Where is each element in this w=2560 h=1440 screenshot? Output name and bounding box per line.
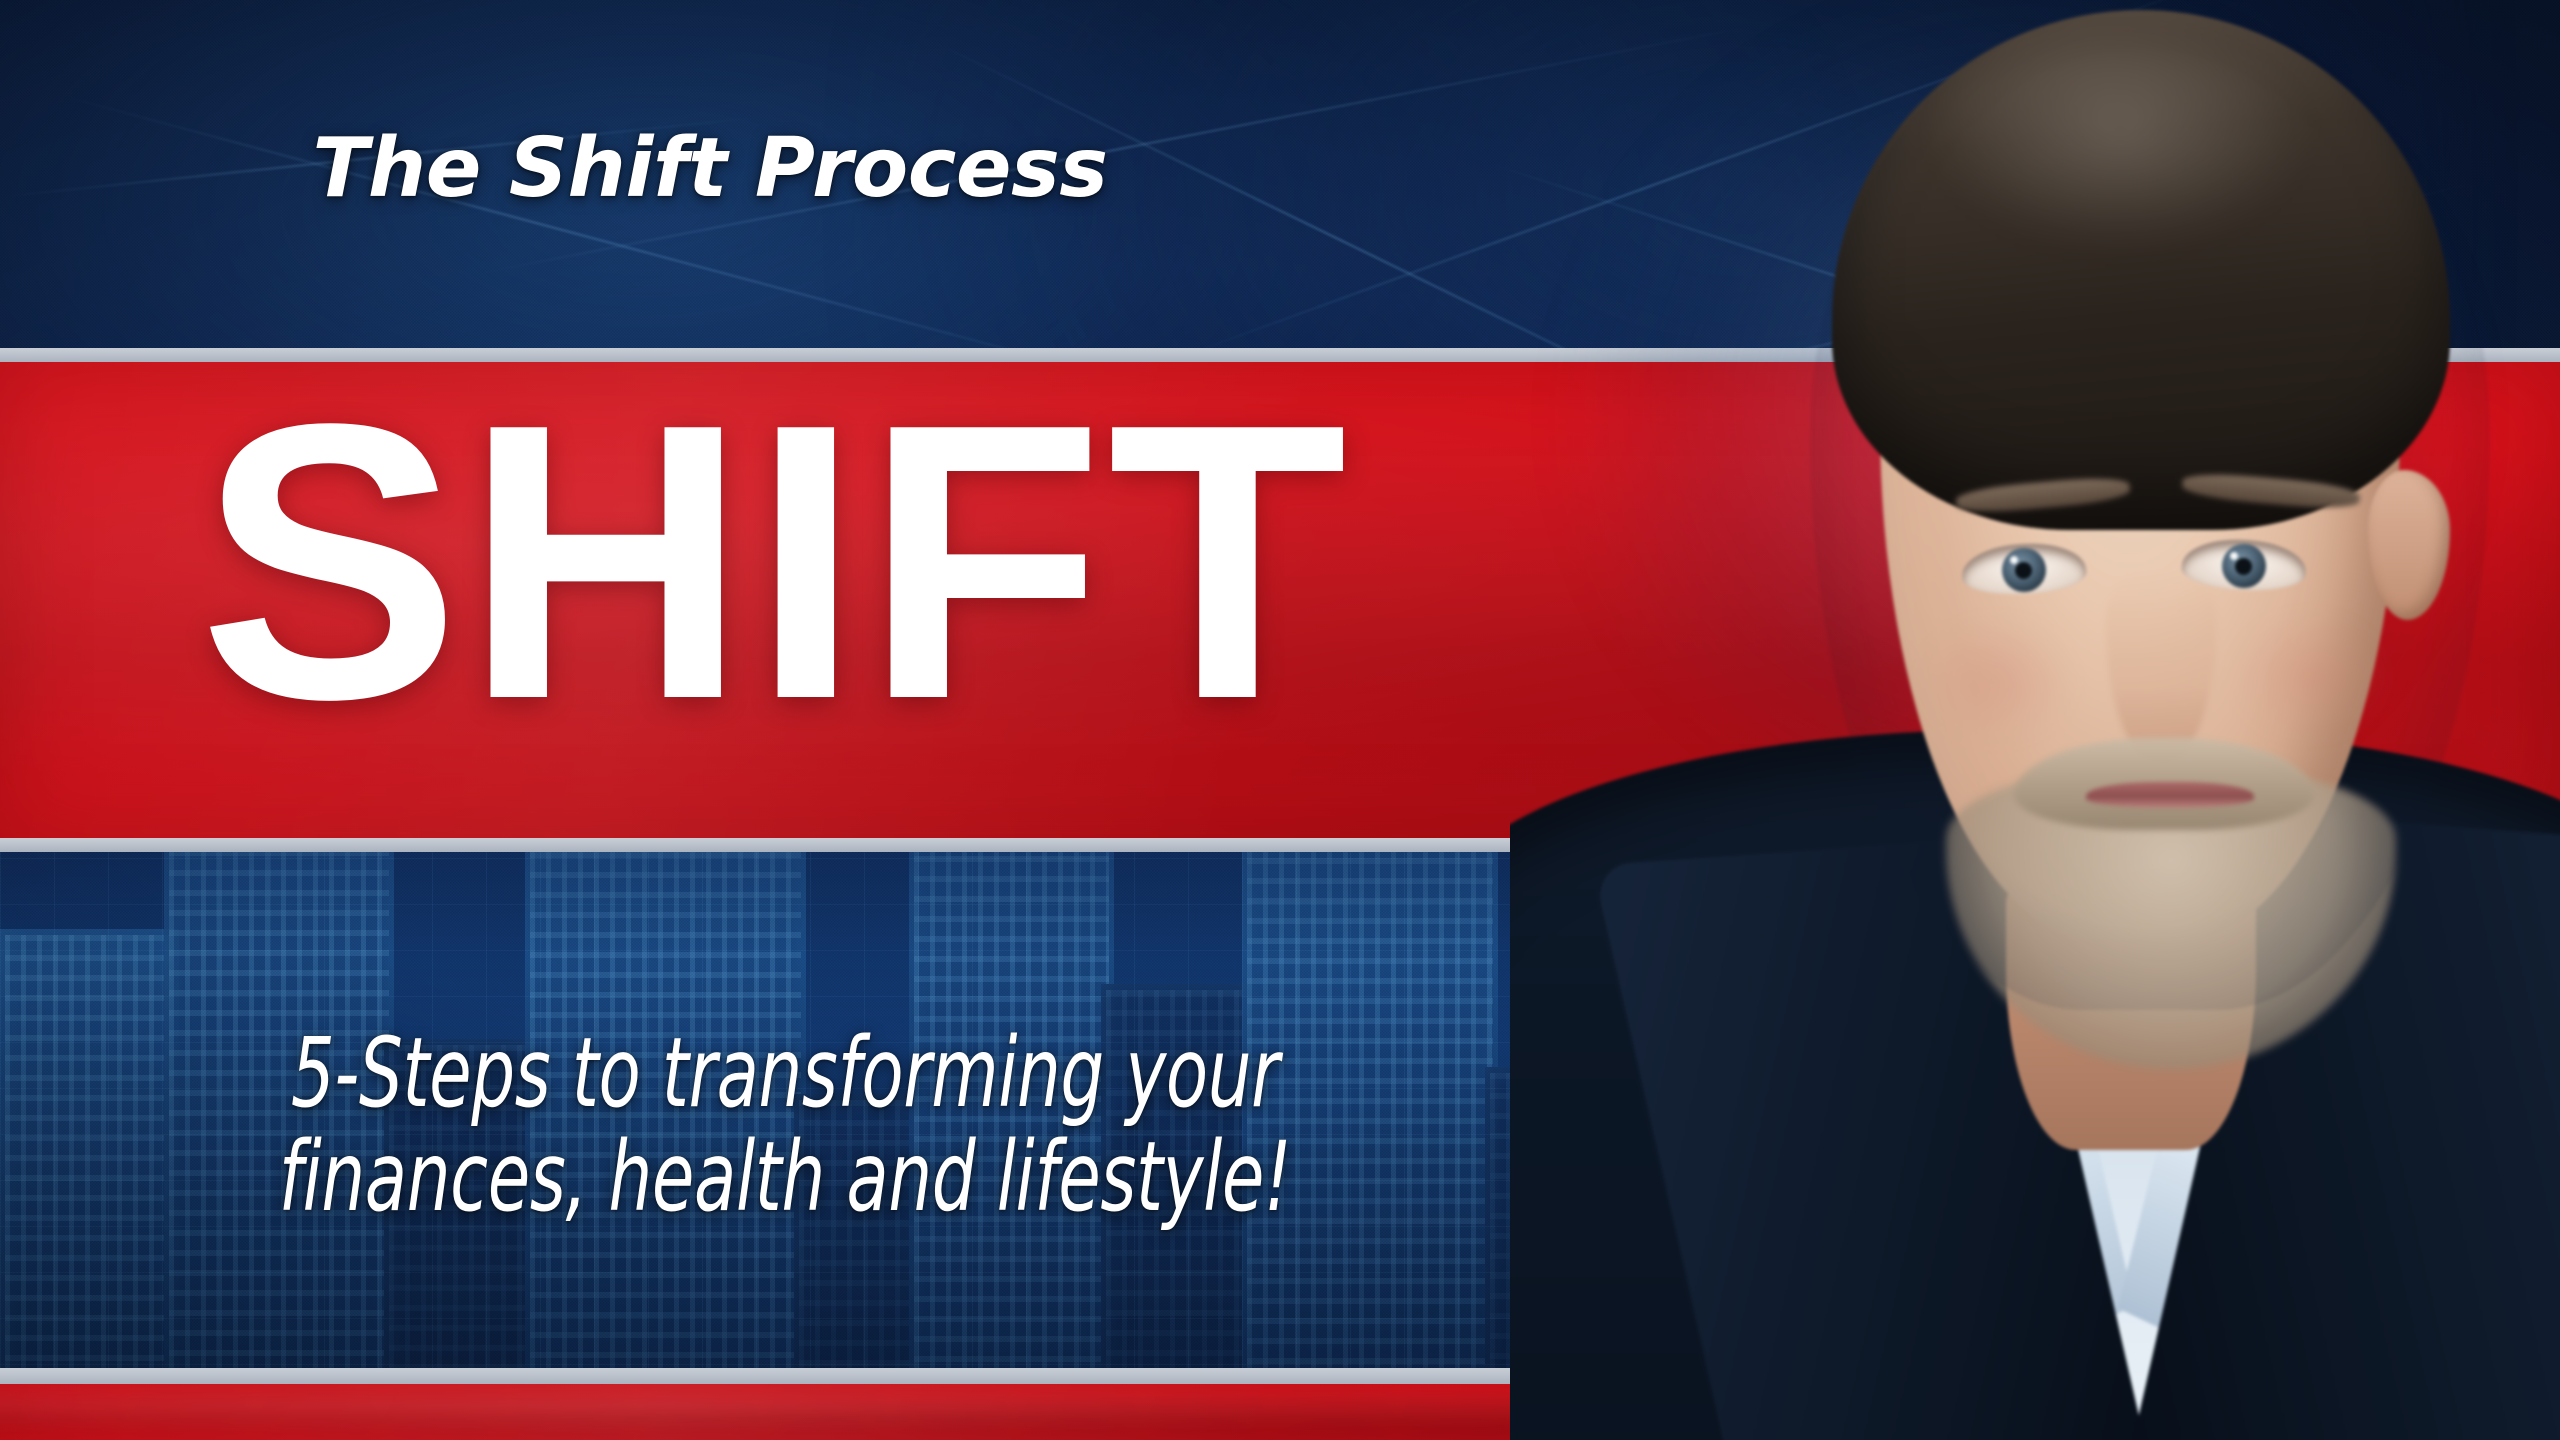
presenter-portrait xyxy=(1510,0,2560,1440)
thumbnail-canvas: The Shift Process SHIFT 5-Steps to trans… xyxy=(0,0,2560,1440)
page-title: The Shift Process xyxy=(0,128,1420,210)
portrait-inner xyxy=(1510,0,2560,1440)
portrait-edge-shading xyxy=(1810,0,2490,1010)
subtitle-line-1: 5-Steps to transforming your xyxy=(157,1022,1413,1126)
brand-wordmark: SHIFT xyxy=(0,368,1550,756)
subtitle-line-2: finances, health and lifestyle! xyxy=(157,1126,1413,1230)
subtitle: 5-Steps to transforming your finances, h… xyxy=(0,1022,1570,1229)
